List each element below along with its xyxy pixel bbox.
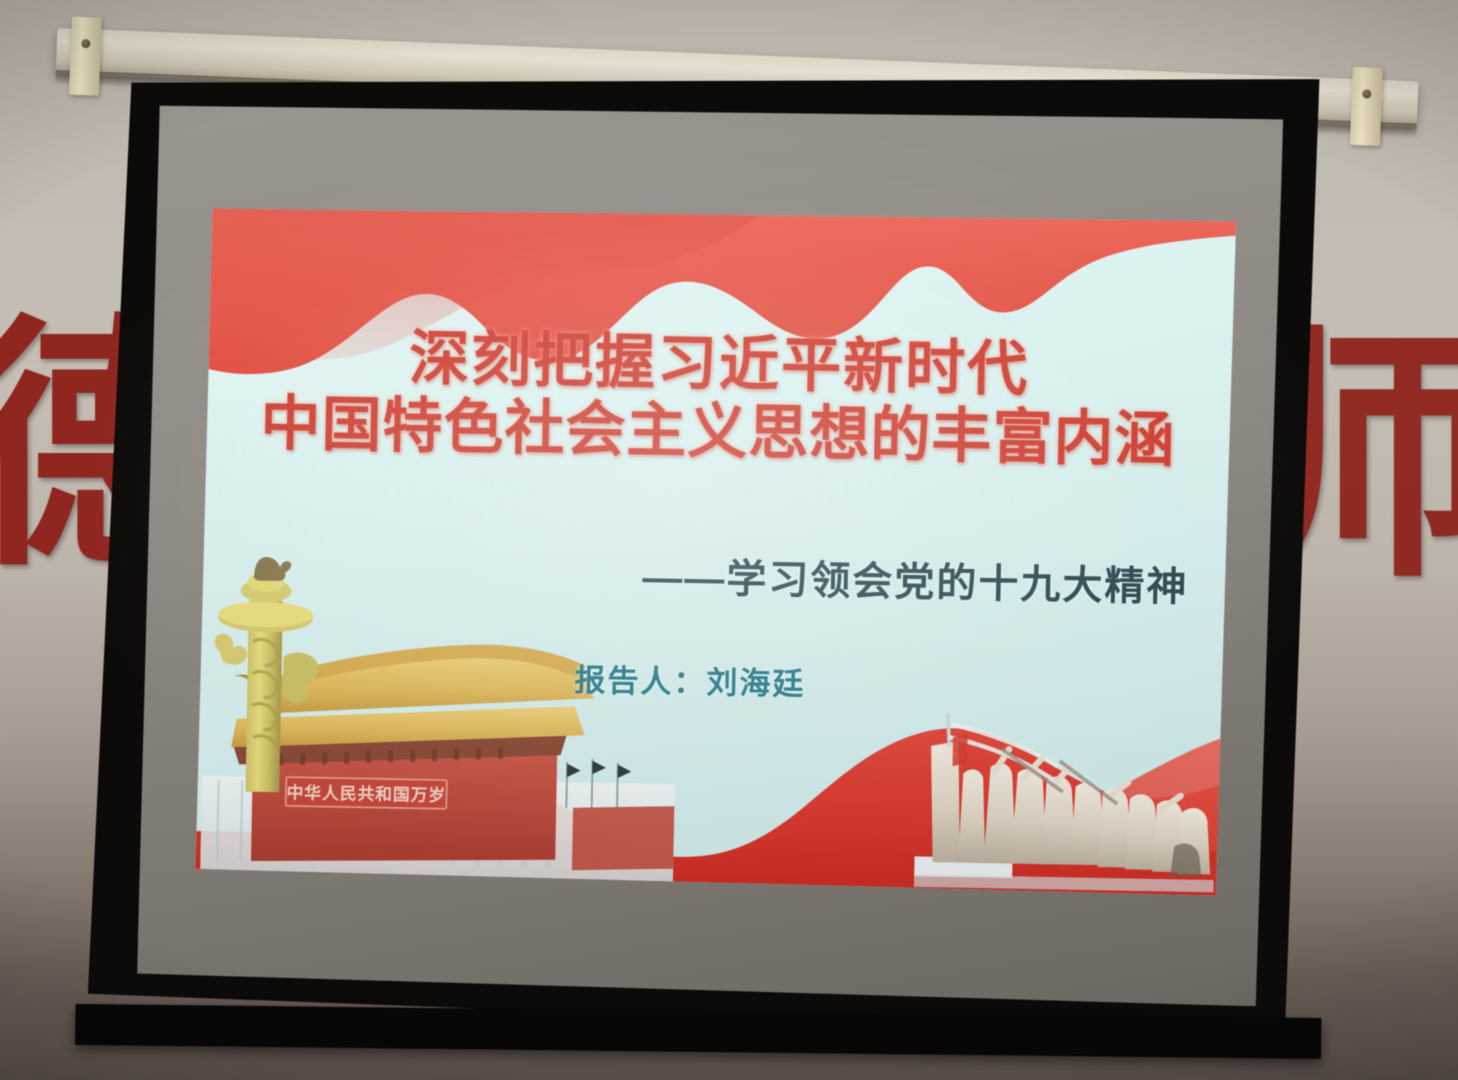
slide-presenter-label: 报告人：刘海廷: [574, 654, 806, 703]
classroom-scene: 德 师 ♥ Redleaf: [0, 0, 1458, 1080]
slide-title: 深刻把握习近平新时代 中国特色社会主义思想的丰富内涵: [203, 320, 1234, 476]
slide-title-line1: 深刻把握习近平新时代: [409, 324, 1030, 402]
slide-subtitle: ——学习领会党的十九大精神: [642, 544, 1189, 612]
projected-slide: 中华人民共和国万岁: [195, 202, 1236, 895]
screen-fabric: 中华人民共和国万岁: [137, 99, 1283, 1007]
housing-bracket-right: [1350, 67, 1383, 146]
bracket-screw-icon: [1362, 89, 1371, 98]
bracket-screw-icon: [81, 39, 90, 48]
projection-screen: 中华人民共和国万岁: [87, 57, 1327, 1049]
housing-bracket-left: [69, 17, 102, 96]
slide-title-line2: 中国特色社会主义思想的丰富内涵: [203, 389, 1233, 476]
slide-text-block: 深刻把握习近平新时代 中国特色社会主义思想的丰富内涵 ——学习领会党的十九大精神…: [195, 202, 1236, 895]
